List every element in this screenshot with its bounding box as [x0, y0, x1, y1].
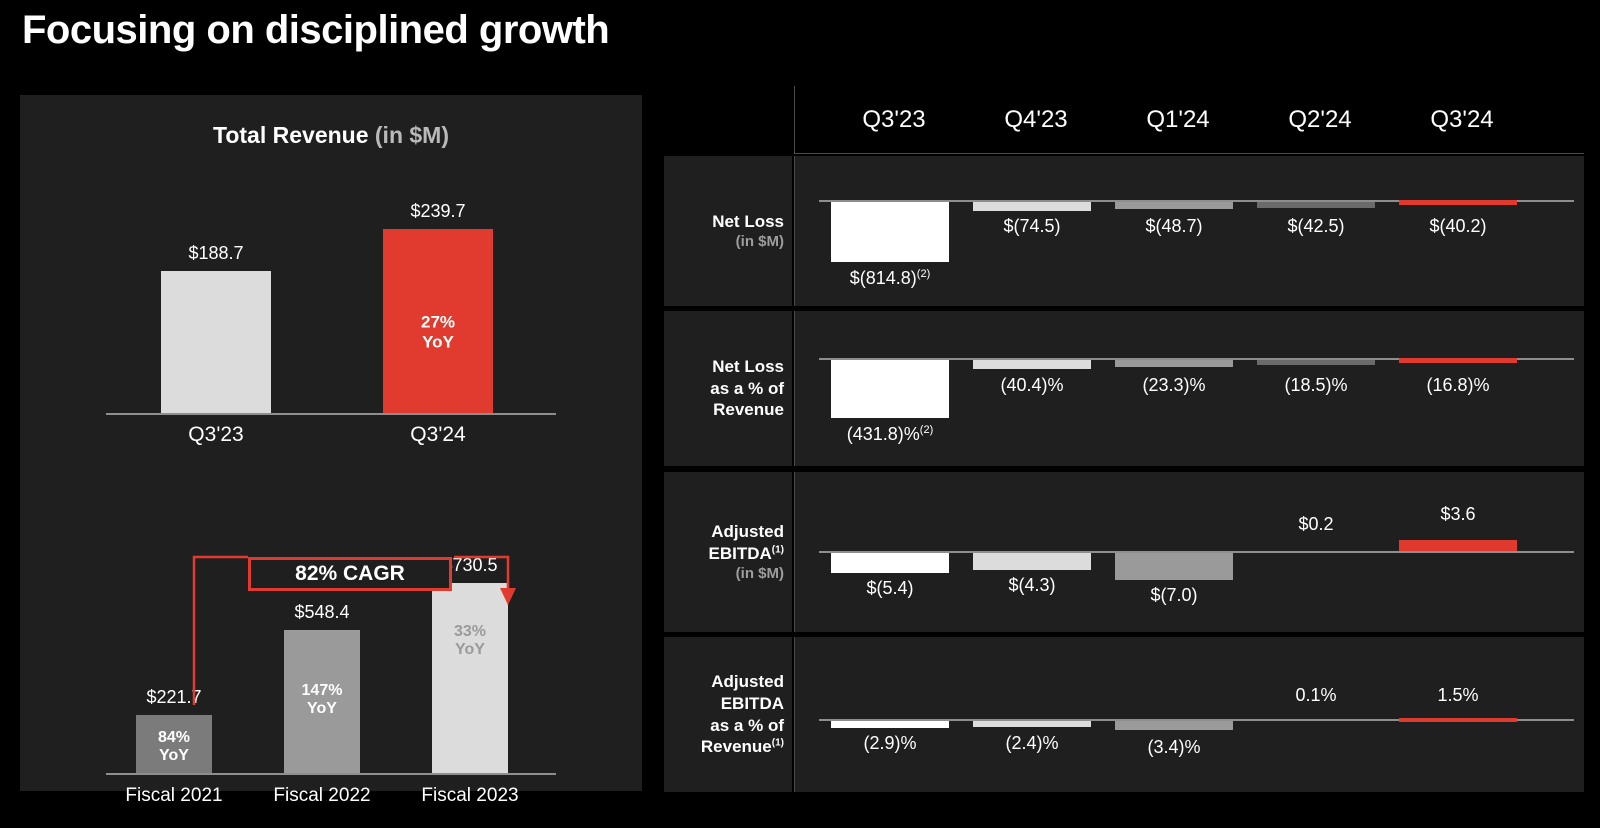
- row-label-adj-ebitda-pct-l3: as a % of: [710, 715, 784, 737]
- cell-net-loss-pct-q423: (40.4)%: [961, 311, 1103, 466]
- cell-adj-ebitda-q423: $(4.3): [961, 472, 1103, 632]
- value-net-loss-q423: $(74.5): [1003, 216, 1060, 237]
- cell-adj-ebitda-q124: $(7.0): [1103, 472, 1245, 632]
- row-label-adj-ebitda-pct: Adjusted EBITDA as a % of Revenue(1): [664, 637, 792, 792]
- revenue-yoy-badge-q324: 27% YoY: [383, 312, 493, 351]
- bar-net-loss-pct-q423: [973, 360, 1091, 369]
- column-header-q124: Q1'24: [1103, 106, 1253, 134]
- bar-adj-ebitda-pct-q323: [831, 721, 949, 728]
- revenue-heading-main: Total Revenue: [213, 122, 369, 148]
- value-adj-ebitda-pct-q323: (2.9)%: [863, 733, 916, 754]
- row-label-net-loss-pct-l2: as a % of: [710, 378, 784, 400]
- row-plot-adj-ebitda-pct: (2.9)% (2.4)% (3.4)% 0.1% 1.5%: [794, 637, 1584, 792]
- value-adj-ebitda-q323: $(5.4): [866, 578, 913, 599]
- cagr-callout: 82% CAGR: [248, 557, 452, 591]
- bar-adj-ebitda-q324: [1399, 540, 1517, 551]
- value-net-loss-pct-q423: (40.4)%: [1000, 375, 1063, 396]
- metric-row-adj-ebitda-pct: Adjusted EBITDA as a % of Revenue(1) (2.…: [664, 637, 1584, 792]
- column-header-q224: Q2'24: [1245, 106, 1395, 134]
- value-adj-ebitda-q324: $3.6: [1440, 504, 1475, 525]
- value-net-loss-q324: $(40.2): [1429, 216, 1486, 237]
- bar-net-loss-q324: [1399, 200, 1517, 205]
- revenue-value-q323: $188.7: [188, 243, 243, 264]
- column-header-q324: Q3'24: [1387, 106, 1537, 134]
- value-net-loss-pct-q224: (18.5)%: [1284, 375, 1347, 396]
- revenue-bar-q323: $188.7: [161, 271, 271, 413]
- revenue-heading-unit: (in $M): [375, 122, 449, 148]
- row-label-net-loss-pct-l1: Net Loss: [712, 356, 784, 378]
- revenue-chart-heading: Total Revenue (in $M): [20, 122, 642, 149]
- cell-adj-ebitda-pct-q423: (2.4)%: [961, 637, 1103, 792]
- bar-adj-ebitda-q323: [831, 553, 949, 573]
- cagr-arrowhead: [500, 588, 516, 605]
- column-header-q423: Q4'23: [961, 106, 1111, 134]
- bar-net-loss-pct-q323: [831, 360, 949, 418]
- value-net-loss-q124: $(48.7): [1145, 216, 1202, 237]
- cell-net-loss-pct-q124: (23.3)%: [1103, 311, 1245, 466]
- row-label-net-loss-text: Net Loss: [712, 211, 784, 233]
- row-label-adj-ebitda-l2: EBITDA(1): [708, 543, 784, 565]
- row-label-adj-ebitda-l1: Adjusted: [711, 521, 784, 543]
- revenue-xlabel-q323: Q3'23: [188, 423, 243, 447]
- metric-row-net-loss: Net Loss (in $M) $(814.8)(2) $(74.5) $(4…: [664, 156, 1584, 306]
- row-label-adj-ebitda-unit: (in $M): [736, 565, 784, 583]
- cell-net-loss-q224: $(42.5): [1245, 156, 1387, 306]
- cell-adj-ebitda-pct-q324: 1.5%: [1387, 637, 1529, 792]
- value-adj-ebitda-pct-q324: 1.5%: [1437, 685, 1478, 706]
- bar-net-loss-pct-q324: [1399, 358, 1517, 363]
- cell-adj-ebitda-q323: $(5.4): [819, 472, 961, 632]
- row-label-adj-ebitda-pct-l2: EBITDA: [721, 693, 784, 715]
- revenue-axis-line: [106, 413, 556, 415]
- metrics-column-header-row: Q3'23 Q4'23 Q1'24 Q2'24 Q3'24: [794, 86, 1584, 154]
- cell-adj-ebitda-pct-q124: (3.4)%: [1103, 637, 1245, 792]
- row-label-net-loss-pct-l3: Revenue: [713, 399, 784, 421]
- value-net-loss-pct-q124: (23.3)%: [1142, 375, 1205, 396]
- cell-net-loss-pct-q323: (431.8)%(2): [819, 311, 961, 466]
- value-adj-ebitda-q224: $0.2: [1298, 514, 1333, 535]
- metrics-group-adjusted-ebitda: Adjusted EBITDA(1) (in $M) $(5.4) $(4.3)…: [664, 472, 1584, 792]
- bar-net-loss-pct-q224: [1257, 360, 1375, 365]
- total-revenue-chart: $188.7 Q3'23 $239.7 27% YoY Q3'24: [106, 190, 556, 415]
- metric-row-net-loss-pct: Net Loss as a % of Revenue (431.8)%(2) (…: [664, 311, 1584, 466]
- revenue-xlabel-q324: Q3'24: [410, 423, 465, 447]
- revenue-column-q324: $239.7 27% YoY Q3'24: [383, 229, 493, 413]
- value-adj-ebitda-pct-q124: (3.4)%: [1147, 737, 1200, 758]
- cagr-line-left: [194, 557, 248, 570]
- cell-net-loss-q323: $(814.8)(2): [819, 156, 961, 306]
- cagr-line-right: [454, 557, 508, 590]
- bar-adj-ebitda-pct-q423: [973, 721, 1091, 727]
- row-plot-net-loss: $(814.8)(2) $(74.5) $(48.7) $(42.5) $(40: [794, 156, 1584, 306]
- row-plot-adj-ebitda: $(5.4) $(4.3) $(7.0) $0.2 $3.6: [794, 472, 1584, 632]
- row-label-adj-ebitda-pct-l4: Revenue(1): [701, 736, 784, 758]
- bar-net-loss-pct-q124: [1115, 360, 1233, 367]
- cell-net-loss-q124: $(48.7): [1103, 156, 1245, 306]
- revenue-panel: Total Revenue (in $M) $188.7 Q3'23 $239.…: [20, 95, 642, 791]
- metrics-group-net-loss: Net Loss (in $M) $(814.8)(2) $(74.5) $(4…: [664, 156, 1584, 466]
- row-label-net-loss-pct: Net Loss as a % of Revenue: [664, 311, 792, 466]
- cell-net-loss-q324: $(40.2): [1387, 156, 1529, 306]
- bar-adj-ebitda-q423: [973, 553, 1091, 570]
- cell-adj-ebitda-pct-q323: (2.9)%: [819, 637, 961, 792]
- row-label-adj-ebitda: Adjusted EBITDA(1) (in $M): [664, 472, 792, 632]
- row-label-net-loss-unit: (in $M): [736, 233, 784, 251]
- value-adj-ebitda-q124: $(7.0): [1150, 585, 1197, 606]
- cell-net-loss-pct-q324: (16.8)%: [1387, 311, 1529, 466]
- value-net-loss-pct-q324: (16.8)%: [1426, 375, 1489, 396]
- metric-row-adj-ebitda: Adjusted EBITDA(1) (in $M) $(5.4) $(4.3)…: [664, 472, 1584, 632]
- bar-net-loss-q423: [973, 202, 1091, 211]
- bar-adj-ebitda-pct-q324: [1399, 718, 1517, 722]
- value-net-loss-q224: $(42.5): [1287, 216, 1344, 237]
- page-title: Focusing on disciplined growth: [22, 8, 609, 53]
- bar-net-loss-q323: [831, 202, 949, 262]
- cell-adj-ebitda-q224: $0.2: [1245, 472, 1387, 632]
- cell-net-loss-pct-q224: (18.5)%: [1245, 311, 1387, 466]
- bar-net-loss-q124: [1115, 202, 1233, 209]
- revenue-value-q324: $239.7: [410, 201, 465, 222]
- bar-net-loss-q224: [1257, 202, 1375, 208]
- metrics-panel: Q3'23 Q4'23 Q1'24 Q2'24 Q3'24 Net Loss (…: [664, 86, 1584, 792]
- revenue-yoy-text-q324: YoY: [383, 332, 493, 352]
- revenue-bar-q324: $239.7 27% YoY: [383, 229, 493, 413]
- row-plot-net-loss-pct: (431.8)%(2) (40.4)% (23.3)% (18.5)% (16.: [794, 311, 1584, 466]
- cell-adj-ebitda-pct-q224: 0.1%: [1245, 637, 1387, 792]
- value-net-loss-q323: $(814.8)(2): [850, 268, 931, 289]
- value-adj-ebitda-pct-q423: (2.4)%: [1005, 733, 1058, 754]
- value-net-loss-pct-q323: (431.8)%(2): [847, 424, 934, 445]
- revenue-column-q323: $188.7 Q3'23: [161, 271, 271, 413]
- column-header-q323: Q3'23: [819, 106, 969, 134]
- row-label-net-loss: Net Loss (in $M): [664, 156, 792, 306]
- cell-net-loss-q423: $(74.5): [961, 156, 1103, 306]
- bar-adj-ebitda-pct-q124: [1115, 721, 1233, 730]
- value-adj-ebitda-pct-q224: 0.1%: [1295, 685, 1336, 706]
- cell-adj-ebitda-q324: $3.6: [1387, 472, 1529, 632]
- row-label-adj-ebitda-pct-l1: Adjusted: [711, 671, 784, 693]
- bar-adj-ebitda-q124: [1115, 553, 1233, 580]
- revenue-yoy-pct-q324: 27%: [383, 312, 493, 332]
- value-adj-ebitda-q423: $(4.3): [1008, 575, 1055, 596]
